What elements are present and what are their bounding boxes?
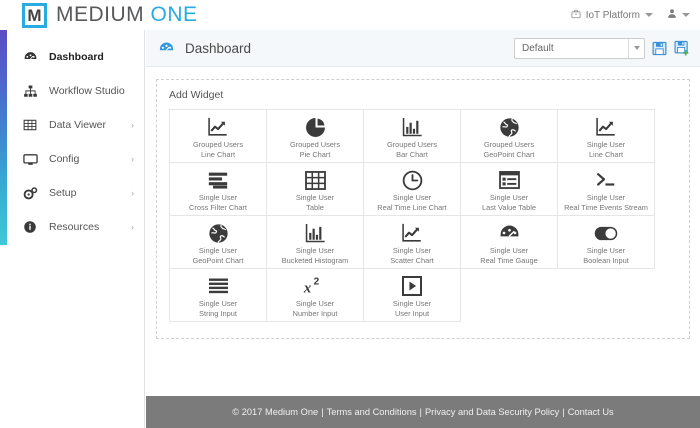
widget-option-geopoint-chart[interactable]: Single UserGeoPoint Chart <box>170 216 267 269</box>
widget-option-type: Table <box>267 203 363 213</box>
sidebar-item-dashboard[interactable]: Dashboard <box>7 40 144 74</box>
globe-icon <box>461 115 557 139</box>
sidebar-item-workflow-studio[interactable]: Workflow Studio <box>7 74 144 108</box>
widget-option-scope: Grouped Users <box>364 140 460 150</box>
sidebar-item-label: Workflow Studio <box>49 85 125 97</box>
sidebar-nav: Dashboard Workflow Studio Data Viewer › … <box>7 30 145 428</box>
line-chart-icon <box>364 221 460 245</box>
content-header: Dashboard Default <box>146 30 700 67</box>
widget-panel-wrapper: Add Widget Grouped UsersLine ChartGroupe… <box>146 67 700 339</box>
medium-one-logo-icon: M <box>22 3 47 28</box>
widget-option-type: GeoPoint Chart <box>170 256 266 266</box>
chevron-down-icon <box>628 39 644 58</box>
widget-option-scope: Grouped Users <box>170 140 266 150</box>
chevron-right-icon: › <box>131 155 134 164</box>
globe-icon <box>170 221 266 245</box>
top-header-bar: M MEDIUM ONE IoT Platform <box>0 0 700 30</box>
widget-option-geopoint-chart[interactable]: Grouped UsersGeoPoint Chart <box>461 110 558 163</box>
x-squared-icon: x2 <box>267 274 363 298</box>
main-content: Dashboard Default Add Widget <box>146 30 700 428</box>
sidebar-item-label: Dashboard <box>49 51 104 63</box>
footer-link-terms[interactable]: Terms and Conditions <box>327 407 417 417</box>
bar-chart-icon <box>364 115 460 139</box>
widget-option-type: Bar Chart <box>364 150 460 160</box>
terminal-icon <box>558 168 654 192</box>
widget-option-label: Single UserLine Chart <box>558 140 654 160</box>
widget-option-real-time-line-chart[interactable]: Single UserReal Time Line Chart <box>364 163 461 216</box>
widget-option-label: Single UserNumber Input <box>267 299 363 319</box>
widget-option-number-input[interactable]: x2Single UserNumber Input <box>267 269 364 322</box>
widget-option-scope: Single User <box>364 246 460 256</box>
brand-name-primary: MEDIUM <box>56 3 144 26</box>
widget-option-type: GeoPoint Chart <box>461 150 557 160</box>
dashboard-select[interactable]: Default <box>514 38 645 59</box>
bar-chart-icon <box>267 221 363 245</box>
widget-option-boolean-input[interactable]: Single UserBoolean Input <box>558 216 655 269</box>
widget-option-bucketed-histogram[interactable]: Single UserBucketed Histogram <box>267 216 364 269</box>
grid-table-icon <box>21 118 39 132</box>
widget-option-type: Scatter Chart <box>364 256 460 266</box>
platform-label: IoT Platform <box>586 10 640 21</box>
brand-name: MEDIUM ONE <box>56 3 198 27</box>
chevron-down-icon <box>645 13 653 17</box>
chevron-right-icon: › <box>131 223 134 232</box>
line-chart-icon <box>558 115 654 139</box>
line-chart-icon <box>170 115 266 139</box>
widget-option-label: Single UserScatter Chart <box>364 246 460 266</box>
brand-name-accent: ONE <box>151 3 198 26</box>
widget-option-scope: Single User <box>558 193 654 203</box>
widget-option-scope: Single User <box>267 299 363 309</box>
sidebar-item-setup[interactable]: Setup › <box>7 176 144 210</box>
user-menu[interactable] <box>667 8 690 22</box>
footer-separator: | <box>321 407 323 417</box>
widget-option-label: Single UserReal Time Gauge <box>461 246 557 266</box>
top-header-actions: IoT Platform <box>571 8 690 22</box>
widget-option-type: Number Input <box>267 309 363 319</box>
speedometer-icon <box>21 50 39 65</box>
widget-option-scope: Single User <box>461 193 557 203</box>
widget-option-label: Grouped UsersGeoPoint Chart <box>461 140 557 160</box>
widget-option-label: Single UserTable <box>267 193 363 213</box>
widget-option-type: User Input <box>364 309 460 319</box>
chevron-right-icon: › <box>131 189 134 198</box>
widget-option-label: Single UserCross Filter Chart <box>170 193 266 213</box>
widget-option-label: Single UserGeoPoint Chart <box>170 246 266 266</box>
widget-option-label: Grouped UsersPie Chart <box>267 140 363 160</box>
widget-option-cross-filter-chart[interactable]: Single UserCross Filter Chart <box>170 163 267 216</box>
add-widget-panel: Add Widget Grouped UsersLine ChartGroupe… <box>156 79 690 339</box>
widget-option-label: Single UserReal Time Events Stream <box>558 193 654 213</box>
cross-filter-icon <box>170 168 266 192</box>
widget-option-type: Line Chart <box>170 150 266 160</box>
lines-icon <box>170 274 266 298</box>
widget-option-scope: Single User <box>170 193 266 203</box>
briefcase-icon <box>571 9 581 22</box>
sidebar-item-label: Config <box>49 153 79 165</box>
sidebar-accent-strip <box>0 30 7 245</box>
widget-option-string-input[interactable]: Single UserString Input <box>170 269 267 322</box>
widget-option-last-value-table[interactable]: Single UserLast Value Table <box>461 163 558 216</box>
widget-option-scatter-chart[interactable]: Single UserScatter Chart <box>364 216 461 269</box>
table-grid-icon <box>267 168 363 192</box>
widget-cell-empty <box>558 269 655 322</box>
sidebar-item-label: Resources <box>49 221 99 233</box>
page-footer: © 2017 Medium One | Terms and Conditions… <box>146 396 700 428</box>
widget-option-type: Boolean Input <box>558 256 654 266</box>
widget-option-label: Single UserString Input <box>170 299 266 319</box>
widget-cell-empty <box>461 269 558 322</box>
sidebar-item-resources[interactable]: Resources › <box>7 210 144 244</box>
footer-separator: | <box>420 407 422 417</box>
save-as-new-dashboard-button[interactable] <box>674 40 690 56</box>
widget-option-scope: Single User <box>558 140 654 150</box>
sidebar-item-config[interactable]: Config › <box>7 142 144 176</box>
widget-option-table[interactable]: Single UserTable <box>267 163 364 216</box>
widget-option-type: Real Time Gauge <box>461 256 557 266</box>
speedometer-icon <box>158 40 175 57</box>
widget-option-label: Single UserReal Time Line Chart <box>364 193 460 213</box>
widget-option-label: Single UserUser Input <box>364 299 460 319</box>
widget-option-line-chart[interactable]: Single UserLine Chart <box>558 110 655 163</box>
widget-option-scope: Grouped Users <box>461 140 557 150</box>
widget-option-scope: Single User <box>461 246 557 256</box>
widget-option-scope: Grouped Users <box>267 140 363 150</box>
widget-option-label: Single UserBucketed Histogram <box>267 246 363 266</box>
svg-text:2: 2 <box>314 277 320 288</box>
chevron-down-icon <box>682 13 690 17</box>
add-widget-title: Add Widget <box>169 89 677 101</box>
widget-option-bar-chart[interactable]: Grouped UsersBar Chart <box>364 110 461 163</box>
widget-option-scope: Single User <box>170 299 266 309</box>
info-icon <box>21 220 39 234</box>
widget-option-scope: Single User <box>558 246 654 256</box>
chevron-right-icon: › <box>131 121 134 130</box>
gears-icon <box>21 186 39 201</box>
page-title: Dashboard <box>185 41 251 56</box>
widget-option-type: Cross Filter Chart <box>170 203 266 213</box>
widget-option-scope: Single User <box>364 299 460 309</box>
widget-option-type: Real Time Events Stream <box>558 203 654 213</box>
sidebar-item-data-viewer[interactable]: Data Viewer › <box>7 108 144 142</box>
widget-option-scope: Single User <box>364 193 460 203</box>
widget-option-label: Single UserBoolean Input <box>558 246 654 266</box>
widget-grid-row: Grouped UsersLine ChartGrouped UsersPie … <box>170 110 655 163</box>
platform-selector[interactable]: IoT Platform <box>571 9 653 22</box>
dashboard-select-value: Default <box>522 43 554 54</box>
widget-option-real-time-gauge[interactable]: Single UserReal Time Gauge <box>461 216 558 269</box>
widget-option-label: Grouped UsersLine Chart <box>170 140 266 160</box>
footer-link-privacy[interactable]: Privacy and Data Security Policy <box>425 407 559 417</box>
footer-copyright: © 2017 Medium One <box>232 407 318 417</box>
widget-option-type: Bucketed Histogram <box>267 256 363 266</box>
clock-icon <box>364 168 460 192</box>
content-header-actions: Default <box>514 38 690 59</box>
widget-option-line-chart[interactable]: Grouped UsersLine Chart <box>170 110 267 163</box>
widget-option-type: Real Time Line Chart <box>364 203 460 213</box>
widget-option-type: Last Value Table <box>461 203 557 213</box>
widget-option-scope: Single User <box>267 193 363 203</box>
widget-option-real-time-events-stream[interactable]: Single UserReal Time Events Stream <box>558 163 655 216</box>
sitemap-icon <box>21 84 39 99</box>
widget-option-user-input[interactable]: Single UserUser Input <box>364 269 461 322</box>
pie-chart-icon <box>267 115 363 139</box>
widget-option-scope: Single User <box>267 246 363 256</box>
footer-link-contact[interactable]: Contact Us <box>568 407 614 417</box>
speedometer-icon <box>461 221 557 245</box>
save-dashboard-button[interactable] <box>652 41 667 56</box>
widget-option-type: Pie Chart <box>267 150 363 160</box>
logo-letter: M <box>27 7 41 24</box>
list-panel-icon <box>461 168 557 192</box>
widget-option-scope: Single User <box>170 246 266 256</box>
toggle-icon <box>558 221 654 245</box>
brand-logo[interactable]: M MEDIUM ONE <box>22 3 198 28</box>
play-box-icon <box>364 274 460 298</box>
widget-option-label: Grouped UsersBar Chart <box>364 140 460 160</box>
dashboard-page: M MEDIUM ONE IoT Platform <box>0 0 700 428</box>
sidebar-item-label: Setup <box>49 187 76 199</box>
widget-option-type: String Input <box>170 309 266 319</box>
sidebar-item-label: Data Viewer <box>49 119 106 131</box>
widget-option-label: Single UserLast Value Table <box>461 193 557 213</box>
widget-grid-row: Single UserCross Filter ChartSingle User… <box>170 163 655 216</box>
widget-grid-row: Single UserGeoPoint ChartSingle UserBuck… <box>170 216 655 269</box>
widget-option-type: Line Chart <box>558 150 654 160</box>
widget-grid-row: Single UserString Inputx2Single UserNumb… <box>170 269 655 322</box>
footer-separator: | <box>562 407 564 417</box>
widget-grid: Grouped UsersLine ChartGrouped UsersPie … <box>169 109 655 322</box>
monitor-icon <box>21 152 39 167</box>
svg-text:x: x <box>303 280 312 296</box>
widget-option-pie-chart[interactable]: Grouped UsersPie Chart <box>267 110 364 163</box>
user-icon <box>667 8 677 22</box>
